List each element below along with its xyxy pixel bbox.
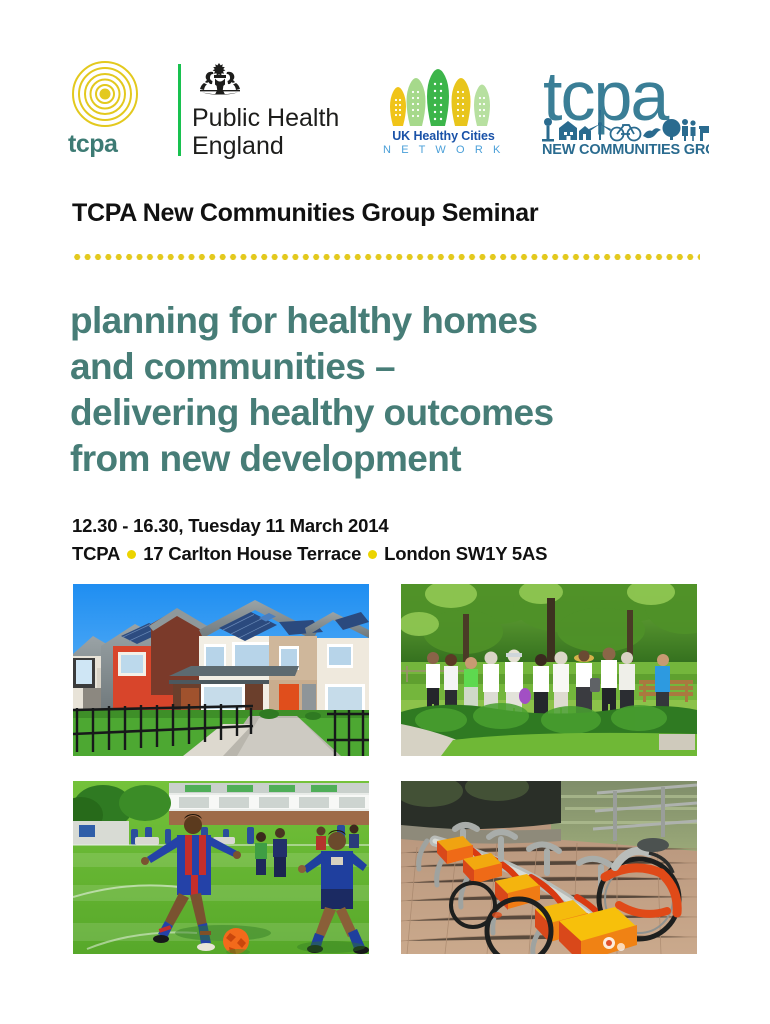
photo-eco-housing [73, 584, 369, 756]
photo-park-walk [401, 584, 697, 756]
photo-youth-football [73, 781, 369, 954]
headline-line-1: planning for healthy homes [70, 298, 710, 344]
logo-phe-line1: Public Health [192, 104, 358, 132]
bullet-separator-icon [127, 550, 136, 559]
logo-tcpa: tcpa [68, 62, 152, 154]
logo-tcpa-new-communities-group: tcpa [537, 58, 709, 158]
event-venue-line: TCPA17 Carlton House TerraceLondon SW1Y … [72, 540, 712, 568]
logo-tcpa-wordmark: tcpa [68, 130, 152, 159]
dotted-divider [72, 254, 700, 260]
logo-ukhc-line1: UK Healthy Cities [381, 129, 506, 143]
svg-text:NEW COMMUNITIES GROUP: NEW COMMUNITIES GROUP [542, 142, 709, 158]
logo-uk-healthy-cities-network: UK Healthy Cities N E T W O R K [381, 62, 506, 158]
logo-public-health-england: Public Health England [178, 62, 358, 158]
event-details: 12.30 - 16.30, Tuesday 11 March 2014 TCP… [72, 512, 712, 568]
five-leaf-buildings-icon [385, 62, 503, 128]
royal-coat-of-arms-crest-icon [192, 62, 248, 96]
event-venue-address: 17 Carlton House Terrace [143, 543, 361, 564]
logo-ukhc-line2: N E T W O R K [381, 144, 506, 156]
headline-line-4: from new development [70, 436, 710, 482]
logo-phe-text: Public Health England [192, 104, 358, 160]
ncg-logo-icon: tcpa [537, 58, 709, 158]
headline-line-2: and communities – [70, 344, 710, 390]
seminar-title: TCPA New Communities Group Seminar [72, 199, 538, 228]
concentric-rings-roundel-icon [73, 62, 137, 126]
event-time-date: 12.30 - 16.30, Tuesday 11 March 2014 [72, 512, 712, 540]
event-venue-city: London SW1Y 5AS [384, 543, 547, 564]
bullet-separator-icon [368, 550, 377, 559]
event-venue-org: TCPA [72, 543, 120, 564]
photo-grid [73, 584, 697, 954]
logo-phe-line2: England [192, 132, 358, 160]
phe-green-rule [178, 64, 181, 156]
photo-hire-bikes [401, 781, 697, 954]
headline-line-3: delivering healthy outcomes [70, 390, 710, 436]
page-title: planning for healthy homes and communiti… [70, 298, 710, 482]
logo-bar: tcpa Public Health England [0, 0, 770, 180]
svg-text:tcpa: tcpa [543, 58, 669, 135]
